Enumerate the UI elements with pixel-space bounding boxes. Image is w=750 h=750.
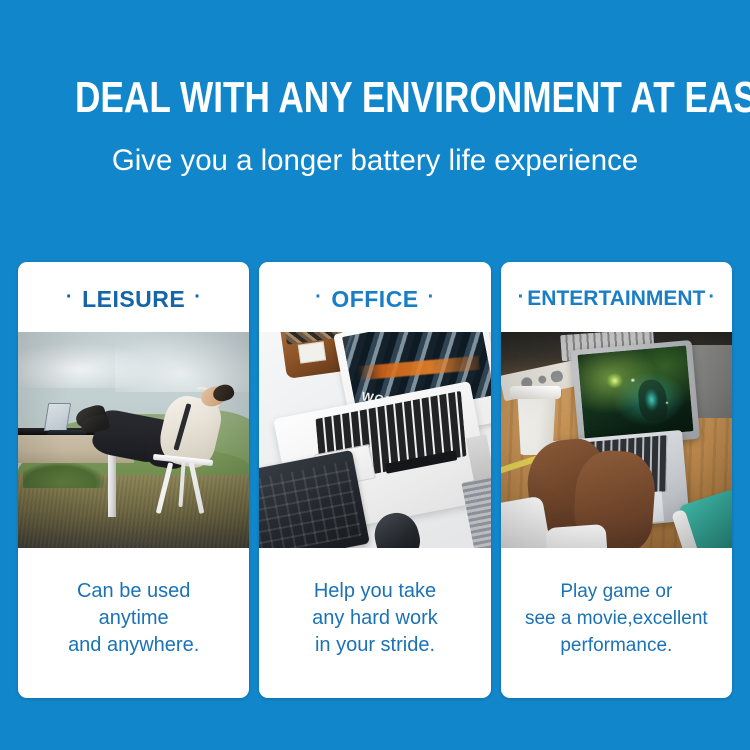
caption-line: any hard work	[312, 605, 438, 632]
bullet-dot-left-icon: ·	[315, 287, 322, 307]
photo-vignette	[501, 332, 732, 548]
card-caption-office: Help you take any hard work in your stri…	[259, 548, 490, 698]
feature-card-office[interactable]: · OFFICE · WORK HARD WORK HARD Help	[259, 262, 490, 698]
card-title-entertainment: · ENTERTAINMENT ·	[501, 262, 732, 332]
card-photo-entertainment	[501, 332, 732, 548]
card-photo-leisure	[18, 332, 249, 548]
bullet-dot-left-icon: ·	[66, 287, 73, 307]
bullet-dot-left-icon: ·	[518, 287, 525, 307]
card-caption-entertainment: Play game or see a movie,excellent perfo…	[501, 548, 732, 698]
caption-line: Help you take	[314, 578, 436, 605]
card-photo-office: WORK HARD WORK HARD	[259, 332, 490, 548]
page-subheadline: Give you a longer battery life experienc…	[8, 143, 743, 179]
caption-line: performance.	[560, 632, 672, 659]
card-heading-text: LEISURE	[82, 286, 185, 313]
caption-line: Can be used	[77, 578, 190, 605]
bullet-dot-right-icon: ·	[428, 287, 435, 307]
feature-card-entertainment[interactable]: · ENTERTAINMENT ·	[501, 262, 732, 698]
page-headline: DEAL WITH ANY ENVIRONMENT AT EASE	[75, 74, 675, 122]
card-caption-leisure: Can be used anytime and anywhere.	[18, 548, 249, 698]
card-heading-text: OFFICE	[331, 286, 418, 313]
photo-screen-highlight	[357, 356, 480, 380]
bullet-dot-right-icon: ·	[708, 287, 715, 307]
card-heading-text: ENTERTAINMENT	[527, 287, 705, 311]
bullet-dot-right-icon: ·	[194, 287, 201, 307]
caption-line: see a movie,excellent	[525, 605, 708, 632]
caption-line: and anywhere.	[68, 632, 199, 659]
feature-card-row: · LEISURE ·	[18, 262, 732, 698]
feature-card-leisure[interactable]: · LEISURE ·	[18, 262, 249, 698]
card-title-office: · OFFICE ·	[259, 262, 490, 332]
caption-line: Play game or	[560, 578, 672, 605]
photo-external-keyboard	[259, 450, 369, 548]
photo-vignette	[18, 332, 249, 548]
caption-line: anytime	[99, 605, 169, 632]
photo-backpack-tag	[298, 341, 326, 364]
caption-line: in your stride.	[315, 632, 435, 659]
card-title-leisure: · LEISURE ·	[18, 262, 249, 332]
